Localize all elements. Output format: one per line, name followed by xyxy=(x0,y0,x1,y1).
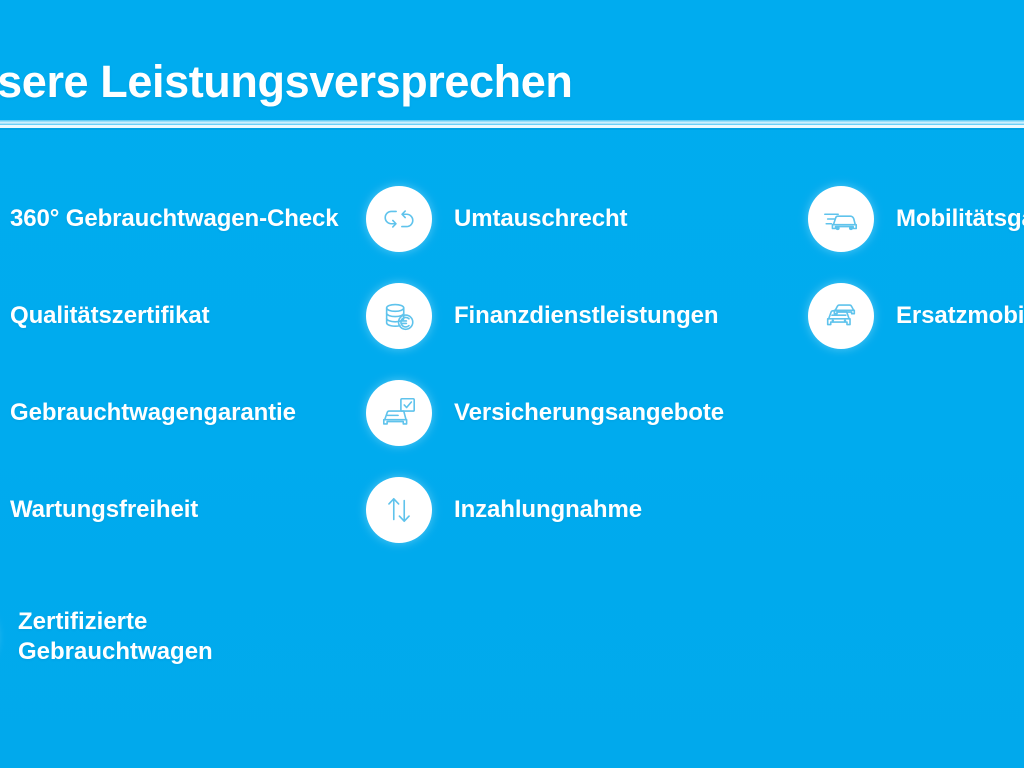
seal-label-line1: Zertifizierte xyxy=(18,607,213,637)
two-cars-icon xyxy=(808,283,874,349)
headline-divider xyxy=(0,120,1024,130)
benefit-item-mobility-guarantee[interactable]: Mobilitätsgarantie xyxy=(808,186,1024,252)
benefit-label: Gebrauchtwagengarantie xyxy=(10,398,296,428)
benefit-item-insurance-offers[interactable]: Versicherungsangebote xyxy=(366,380,796,446)
benefits-column-middle: Umtauschrecht Finanzdienstleistun xyxy=(366,186,796,574)
benefit-item-financial-services[interactable]: Finanzdienstleistungen xyxy=(366,283,796,349)
slide-canvas: Unsere Leistungsversprechen xyxy=(0,0,1024,768)
benefit-item-replacement-mobility[interactable]: Ersatzmobilität xyxy=(808,283,1024,349)
benefits-column-left: 360° Gebrauchtwagen-Check Qualitätszerti… xyxy=(0,186,352,574)
car-checklist-icon xyxy=(366,380,432,446)
benefit-label: Umtauschrecht xyxy=(454,204,627,234)
benefit-label: Finanzdienstleistungen xyxy=(454,301,718,331)
page-title: Unsere Leistungsversprechen xyxy=(0,54,1024,110)
divider-shadow xyxy=(0,128,1024,130)
benefit-label: 360° Gebrauchtwagen-Check xyxy=(10,204,339,234)
up-down-arrows-icon xyxy=(366,477,432,543)
benefits-column-right: Mobilitätsgarantie Ersatzmobilität xyxy=(808,186,1024,380)
benefit-label: Versicherungsangebote xyxy=(454,398,724,428)
benefit-item-360-check[interactable]: 360° Gebrauchtwagen-Check xyxy=(0,186,352,252)
benefit-label: Mobilitätsgarantie xyxy=(896,204,1024,234)
benefit-label: Inzahlungnahme xyxy=(454,495,642,525)
seal-label-line2: Gebrauchtwagen xyxy=(18,637,213,667)
seal-label: Zertifizierte Gebrauchtwagen xyxy=(18,607,213,667)
benefit-label: Wartungsfreiheit xyxy=(10,495,198,525)
benefits-grid: 360° Gebrauchtwagen-Check Qualitätszerti… xyxy=(0,186,1024,586)
benefit-item-maintenance-free[interactable]: Wartungsfreiheit xyxy=(0,477,352,543)
benefit-item-quality-certificate[interactable]: Qualitätszertifikat xyxy=(0,283,352,349)
moving-car-icon xyxy=(808,186,874,252)
benefit-label: Ersatzmobilität xyxy=(896,301,1024,331)
benefit-item-right-of-exchange[interactable]: Umtauschrecht xyxy=(366,186,796,252)
benefit-item-used-car-warranty[interactable]: Gebrauchtwagengarantie xyxy=(0,380,352,446)
coins-euro-icon xyxy=(366,283,432,349)
benefit-item-trade-in[interactable]: Inzahlungnahme xyxy=(366,477,796,543)
exchange-arrows-icon xyxy=(366,186,432,252)
benefit-label: Qualitätszertifikat xyxy=(10,301,210,331)
certified-used-car-seal[interactable]: Zertifizierte Gebrauchtwagen xyxy=(0,600,213,674)
